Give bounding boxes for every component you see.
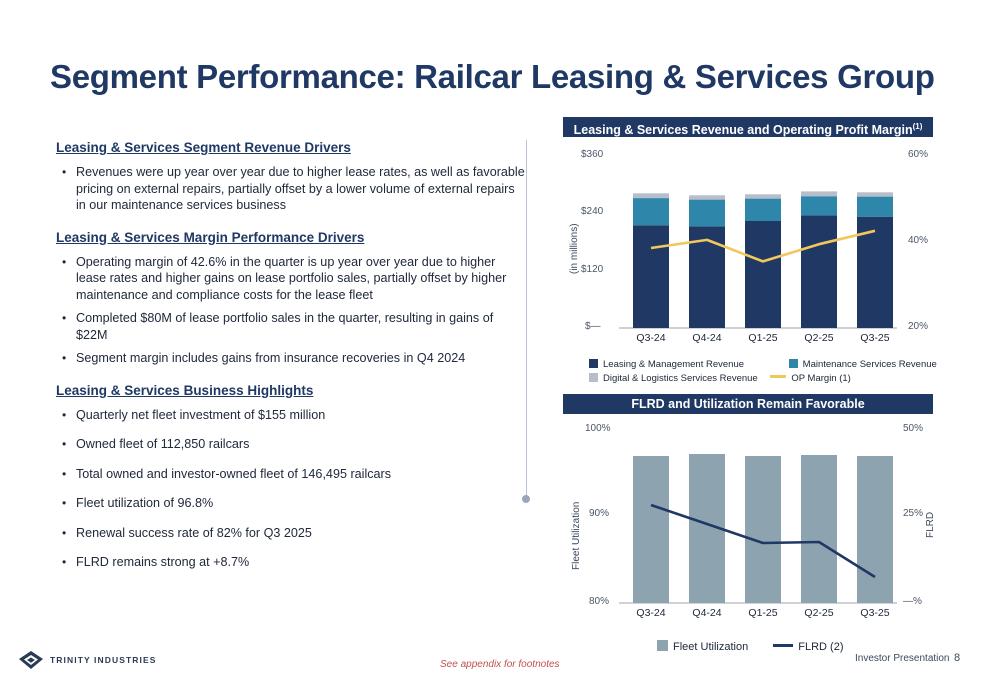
legend-label: Leasing & Management Revenue (603, 359, 744, 370)
revenue-drivers-list: Revenues were up year over year due to h… (56, 164, 526, 214)
chart1-y-axis-title: (in millions) (569, 223, 580, 274)
chart2-y2-axis-title: FLRD (925, 512, 936, 538)
legend-line-icon (773, 644, 793, 647)
list-item: Operating margin of 42.6% in the quarter… (56, 254, 526, 304)
chart2-y2tick-0: —% (903, 596, 922, 607)
logo-wordmark: TRINITY INDUSTRIES (50, 655, 157, 665)
chart1-category-0: Q3-24 (633, 332, 669, 344)
chart1-ytick-240: $240 (581, 206, 603, 217)
legend-item-digital-logistics: Digital & Logistics Services Revenue (589, 373, 758, 384)
legend-label: FLRD (2) (798, 641, 843, 653)
revenue-margin-chart-svg (563, 140, 935, 388)
page-title: Segment Performance: Railcar Leasing & S… (50, 58, 935, 96)
page-number: 8 (954, 652, 960, 664)
business-highlights-list: Quarterly net fleet investment of $155 m… (56, 407, 526, 571)
chart1-legend-row1: Leasing & Management Revenue Maintenance… (589, 359, 947, 370)
legend-swatch-icon (657, 640, 668, 651)
list-item: Owned fleet of 112,850 railcars (56, 436, 526, 453)
chart2-header-label: FLRD and Utilization Remain Favorable (631, 397, 864, 411)
chart1-category-2: Q1-25 (745, 332, 781, 344)
chart1-ytick-360: $360 (581, 149, 603, 160)
list-item: Revenues were up year over year due to h… (56, 164, 526, 214)
chart1-category-3: Q2-25 (801, 332, 837, 344)
legend-swatch-icon (789, 359, 798, 368)
footnote-text: See appendix for footnotes (440, 659, 560, 670)
flrd-utilization-chart-svg (563, 418, 935, 658)
list-item: Segment margin includes gains from insur… (56, 350, 526, 367)
chart1-header: Leasing & Services Revenue and Operating… (563, 117, 933, 137)
legend-label: Fleet Utilization (673, 641, 748, 653)
chart1-y2tick-60: 60% (908, 149, 928, 160)
margin-drivers-list: Operating margin of 42.6% in the quarter… (56, 254, 526, 367)
list-item: Quarterly net fleet investment of $155 m… (56, 407, 526, 424)
chart1-header-footnote: (1) (913, 122, 923, 131)
chart1-legend-row2: Digital & Logistics Services Revenue OP … (589, 373, 861, 384)
revenue-drivers-heading: Leasing & Services Segment Revenue Drive… (56, 140, 526, 155)
chart2-ytick-90: 90% (589, 508, 609, 519)
chart1-category-1: Q4-24 (689, 332, 725, 344)
trinity-logo-icon (18, 650, 44, 670)
chart2-y2tick-50: 50% (903, 423, 923, 434)
divider-dot (522, 495, 530, 503)
legend-label: OP Margin (1) (791, 373, 850, 384)
list-item: Completed $80M of lease portfolio sales … (56, 310, 526, 343)
chart1-category-4: Q3-25 (857, 332, 893, 344)
chart2-header: FLRD and Utilization Remain Favorable (563, 394, 933, 414)
chart2-category-3: Q2-25 (801, 607, 837, 619)
legend-swatch-icon (589, 359, 598, 368)
legend-line-icon (770, 375, 786, 378)
list-item: FLRD remains strong at +8.7% (56, 554, 526, 571)
slide: Segment Performance: Railcar Leasing & S… (0, 0, 1000, 685)
revenue-margin-chart: (in millions) $360 $240 $120 $— 60% 40% … (563, 140, 935, 388)
legend-item-op-margin: OP Margin (1) (770, 373, 850, 384)
chart2-category-2: Q1-25 (745, 607, 781, 619)
legend-item-flrd: FLRD (2) (773, 641, 843, 653)
chart2-legend: Fleet Utilization FLRD (2) (657, 640, 854, 653)
top-rule (0, 0, 1000, 4)
business-highlights-heading: Leasing & Services Business Highlights (56, 383, 526, 398)
list-item: Fleet utilization of 96.8% (56, 495, 526, 512)
chart1-ytick-120: $120 (581, 264, 603, 275)
legend-item-fleet-utilization: Fleet Utilization (657, 640, 748, 653)
legend-label: Digital & Logistics Services Revenue (603, 373, 758, 384)
legend-swatch-icon (589, 373, 598, 382)
list-item: Total owned and investor-owned fleet of … (56, 466, 526, 483)
chart2-category-0: Q3-24 (633, 607, 669, 619)
chart2-y-axis-title: Fleet Utilization (571, 502, 582, 570)
chart2-ytick-100: 100% (585, 423, 611, 434)
legend-label: Maintenance Services Revenue (803, 359, 937, 370)
list-item: Renewal success rate of 82% for Q3 2025 (56, 525, 526, 542)
margin-drivers-heading: Leasing & Services Margin Performance Dr… (56, 230, 526, 245)
chart1-header-label: Leasing & Services Revenue and Operating… (574, 123, 913, 137)
chart2-ytick-80: 80% (589, 596, 609, 607)
chart1-y2tick-40: 40% (908, 235, 928, 246)
left-content-column: Leasing & Services Segment Revenue Drive… (56, 140, 526, 587)
flrd-utilization-chart: Fleet Utilization FLRD 100% 90% 80% 50% … (563, 418, 935, 658)
chart2-category-4: Q3-25 (857, 607, 893, 619)
chart2-y2tick-25: 25% (903, 508, 923, 519)
legend-item-maintenance-services: Maintenance Services Revenue (789, 359, 937, 370)
legend-item-leasing-management: Leasing & Management Revenue (589, 359, 744, 370)
deck-name: Investor Presentation (855, 653, 950, 664)
chart1-y2tick-20: 20% (908, 321, 928, 332)
company-logo: TRINITY INDUSTRIES (18, 650, 157, 670)
vertical-divider (526, 140, 527, 500)
chart1-ytick-0: $— (585, 321, 601, 332)
chart2-category-1: Q4-24 (689, 607, 725, 619)
